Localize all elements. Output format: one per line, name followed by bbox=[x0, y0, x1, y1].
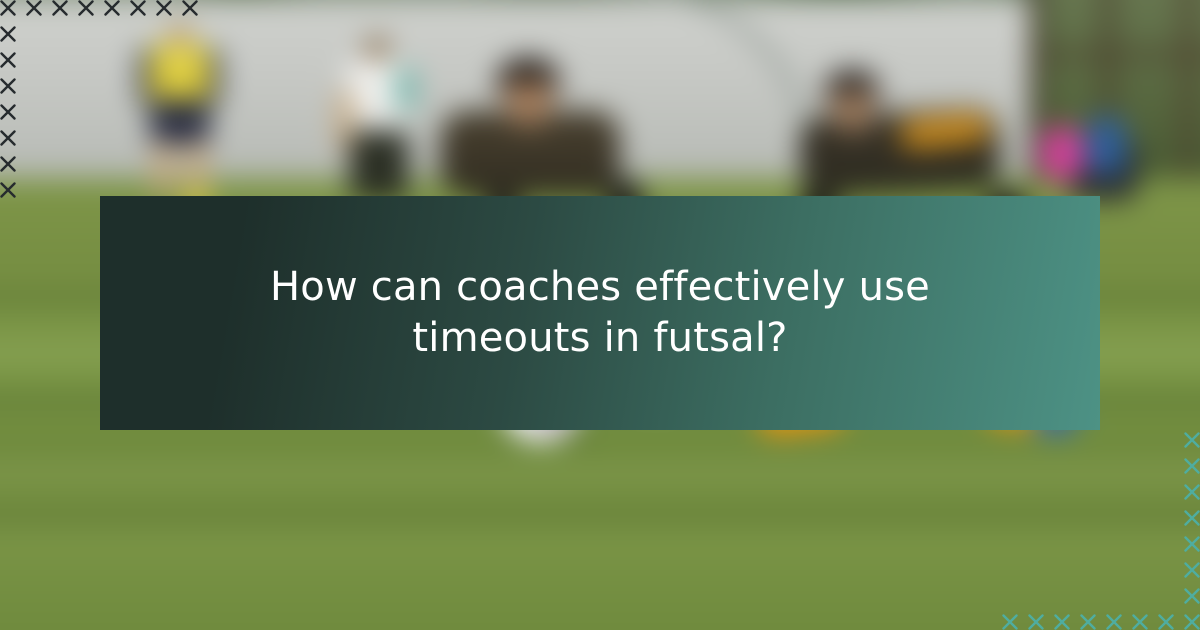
background-spectator-blue bbox=[1086, 116, 1126, 176]
x-pattern-icon bbox=[0, 0, 210, 210]
page-title: How can coaches effectively use timeouts… bbox=[205, 262, 995, 364]
decoration-bottom-right bbox=[990, 420, 1200, 630]
decoration-top-left bbox=[0, 0, 210, 210]
background-spectator-pink bbox=[1040, 126, 1084, 182]
title-banner: How can coaches effectively use timeouts… bbox=[100, 196, 1100, 430]
question-card: How can coaches effectively use timeouts… bbox=[0, 0, 1200, 630]
x-pattern-icon bbox=[990, 420, 1200, 630]
